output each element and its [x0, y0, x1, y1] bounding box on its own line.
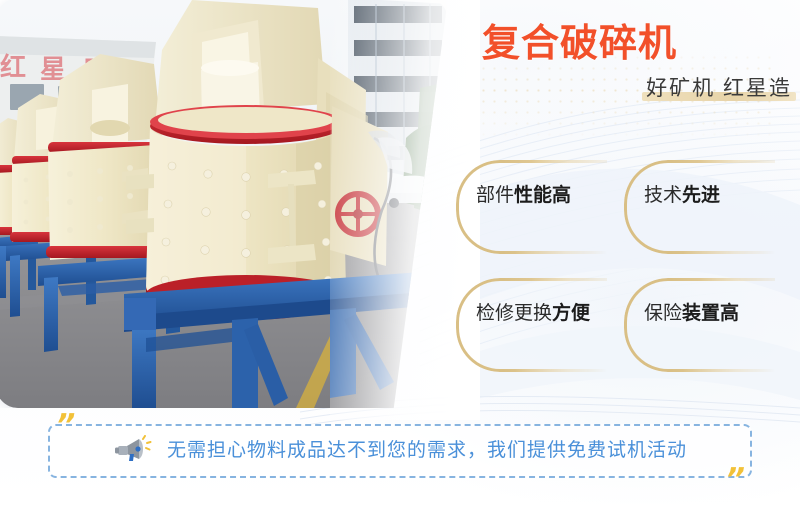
feature-emph-2: 方便 [552, 303, 590, 324]
feature-lead-3: 保险 [644, 303, 682, 324]
megaphone-icon [113, 435, 153, 467]
svg-text:红: 红 [0, 52, 26, 83]
feature-item-1[interactable]: 技术先进 [620, 150, 794, 258]
page-title: 复合破碎机 [482, 22, 792, 66]
product-photo-image: 红星品 [0, 0, 448, 408]
subtitle-block: 好矿机 红星造 [646, 76, 792, 102]
feature-lead-1: 技术 [644, 185, 682, 206]
feature-item-2[interactable]: 检修更换方便 [452, 268, 626, 376]
feature-label-2: 检修更换方便 [476, 302, 626, 326]
product-banner: 红星品 [0, 0, 800, 505]
feature-emph-0: 性能高 [514, 185, 571, 206]
feature-label-1: 技术先进 [644, 184, 794, 208]
feature-lead-2: 检修更换 [476, 303, 552, 324]
feature-item-0[interactable]: 部件性能高 [452, 150, 626, 258]
promo-text: 无需担心物料成品达不到您的需求，我们提供免费试机活动 [167, 439, 687, 463]
feature-emph-3: 装置高 [682, 303, 739, 324]
promo-callout-row: 无需担心物料成品达不到您的需求，我们提供免费试机活动 [50, 426, 750, 476]
product-photo: 红星品 [0, 0, 448, 408]
headline-block: 复合破碎机 好矿机 红星造 [482, 22, 792, 102]
feature-item-3[interactable]: 保险装置高 [620, 268, 794, 376]
feature-label-0: 部件性能高 [476, 184, 626, 208]
feature-lead-0: 部件 [476, 185, 514, 206]
promo-callout[interactable]: ” ” 无需担心物料成品达不到您的需求，我们提供免费试机活动 [48, 424, 752, 478]
feature-list: 部件性能高 技术先进 检修更换方便 保险装置高 [452, 150, 800, 380]
feature-label-3: 保险装置高 [644, 302, 794, 326]
subtitle: 好矿机 红星造 [646, 76, 792, 102]
feature-emph-1: 先进 [682, 185, 720, 206]
